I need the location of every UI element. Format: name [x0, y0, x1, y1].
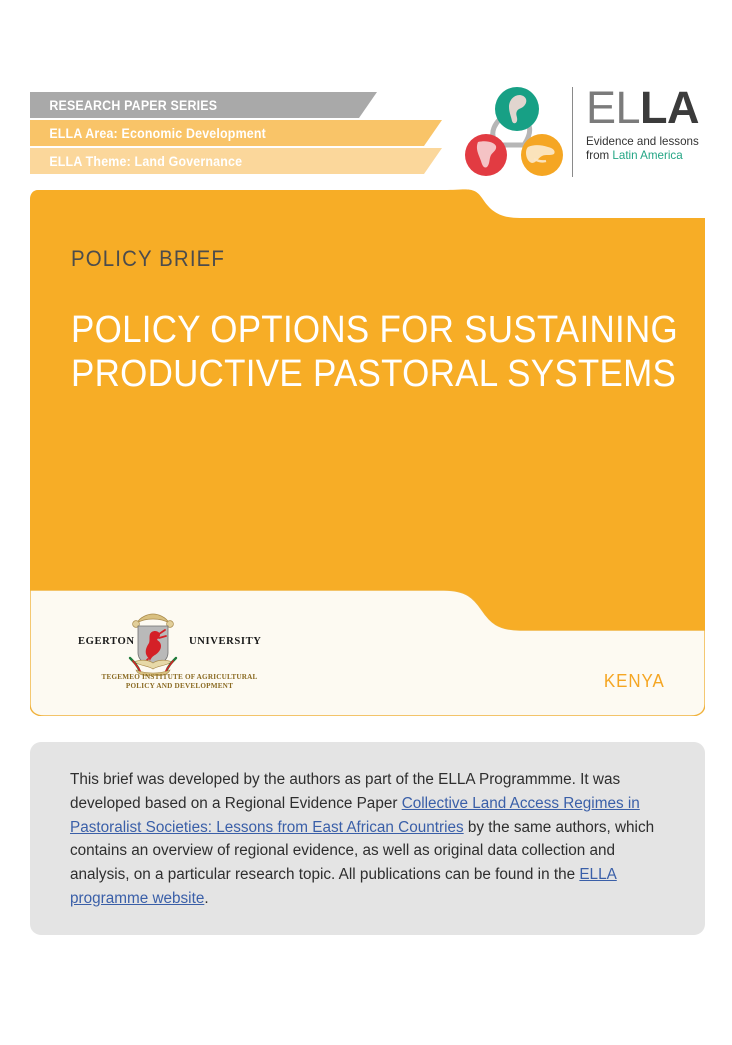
cover-card: POLICY BRIEF POLICY OPTIONS FOR SUSTAINI…: [30, 186, 705, 716]
banner-group: RESEARCH PAPER SERIES ELLA Area: Economi…: [30, 92, 440, 176]
note-box: This brief was developed by the authors …: [30, 742, 705, 935]
banner-bar-research-paper-series: RESEARCH PAPER SERIES: [30, 92, 377, 118]
page-title: POLICY OPTIONS FOR SUSTAINING PRODUCTIVE…: [71, 308, 549, 396]
policy-brief-eyebrow: POLICY BRIEF: [71, 246, 225, 272]
ella-wordmark: ELLA Evidence and lessons from Latin Ame…: [586, 84, 706, 162]
page-title-line1: POLICY OPTIONS FOR SUSTAINING: [71, 308, 549, 352]
tegemeo-institute-line1: TEGEMEO INSTITUTE OF AGRICULTURAL: [72, 673, 287, 681]
asia-circle: [521, 134, 563, 176]
banner-bar-label: ELLA Area: Economic Development: [30, 126, 266, 141]
banner-bar-label: ELLA Theme: Land Governance: [30, 154, 242, 169]
ella-tagline: Evidence and lessons from Latin America: [586, 135, 706, 162]
ella-logo-circles: [462, 83, 570, 179]
egerton-name-left: EGERTON: [78, 636, 135, 647]
banner-bar-ella-theme: ELLA Theme: Land Governance: [30, 148, 442, 174]
south-america-circle: [495, 87, 539, 131]
africa-circle: [465, 134, 507, 176]
ella-tagline-accent: Latin America: [612, 149, 682, 162]
tegemeo-institute-line2: POLICY AND DEVELOPMENT: [72, 682, 287, 690]
egerton-name-right: UNIVERSITY: [189, 636, 262, 647]
ella-tagline-prefix: from: [586, 149, 612, 162]
ella-tagline-line1: Evidence and lessons: [586, 135, 706, 149]
country-label: KENYA: [604, 671, 665, 692]
ella-wordmark-light: EL: [586, 82, 640, 133]
note-text: This brief was developed by the authors …: [70, 768, 668, 911]
cover-card-content: POLICY BRIEF POLICY OPTIONS FOR SUSTAINI…: [30, 186, 705, 716]
logo-divider: [572, 87, 573, 177]
ella-logo: ELLA Evidence and lessons from Latin Ame…: [462, 83, 707, 183]
banner-bar-ella-area: ELLA Area: Economic Development: [30, 120, 442, 146]
ella-wordmark-bold: LA: [640, 82, 699, 133]
ella-tagline-line2: from Latin America: [586, 149, 706, 163]
banner-bar-label: RESEARCH PAPER SERIES: [30, 98, 217, 113]
page-title-line2: PRODUCTIVE PASTORAL SYSTEMS: [71, 352, 549, 396]
egerton-university-logo: EGERTON UNIVERSITY TEGEMEO INSTITUTE OF …: [72, 610, 287, 696]
ella-wordmark-text: ELLA: [586, 84, 706, 132]
note-text-segment-4: .: [204, 890, 208, 907]
